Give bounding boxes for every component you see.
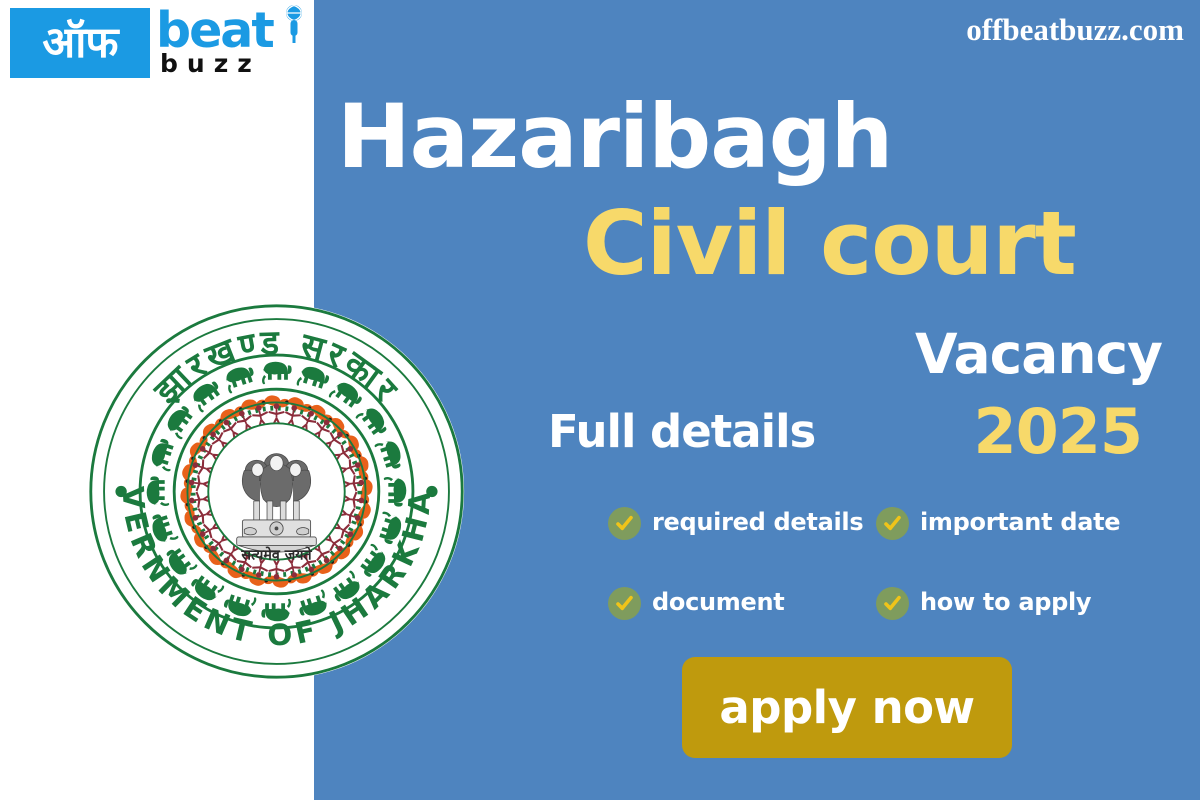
year-label: 2025 [973, 401, 1142, 463]
list-item-label: important date [920, 505, 1120, 539]
list-item[interactable]: required details [608, 505, 876, 585]
list-item-label: how to apply [920, 585, 1091, 619]
logo-sub-text: buzz [160, 51, 306, 76]
check-circle-icon [876, 507, 909, 540]
list-item-label: document [652, 585, 784, 619]
check-circle-icon [608, 587, 641, 620]
government-of-jharkhand-emblem: झारखण्ड सरकार GOVERNMENT OF JHARKHAND [87, 297, 466, 686]
list-item[interactable]: important date [876, 505, 1128, 585]
logo-hindi-box: ऑफ [10, 8, 150, 78]
check-circle-icon [876, 587, 909, 620]
list-item[interactable]: document [608, 585, 876, 665]
full-details-label: Full details [548, 409, 815, 454]
site-url-text: offbeatbuzz.com [966, 12, 1184, 48]
logo-hindi-text: ऑफ [42, 22, 117, 65]
svg-text:सत्यमेव जयते: सत्यमेव जयते [240, 546, 312, 564]
check-circle-icon [608, 507, 641, 540]
page-title-line1: Hazaribagh [337, 93, 892, 181]
page-title-line2: Civil court [583, 200, 1076, 288]
microphone-globe-icon [278, 4, 306, 44]
brand-logo[interactable]: ऑफ beat buzz [10, 8, 310, 98]
vacancy-label: Vacancy [915, 327, 1162, 382]
list-item[interactable]: how to apply [876, 585, 1128, 665]
apply-now-button[interactable]: apply now [682, 657, 1012, 758]
list-item-label: required details [652, 505, 863, 539]
poster-canvas: ऑफ beat buzz offbeatbuzz.com Hazaribagh … [0, 0, 1200, 800]
logo-wordmark: beat buzz [156, 8, 306, 76]
feature-checklist: required details important date document [608, 505, 1128, 665]
